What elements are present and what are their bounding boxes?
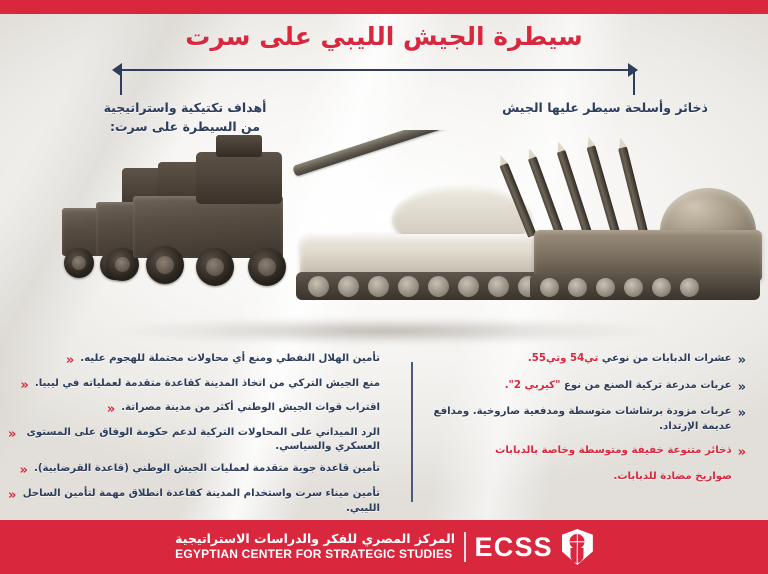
turret-mount	[216, 135, 262, 157]
list-item: منع الجيش التركي من اتخاذ المدينة كقاعدة…	[8, 377, 380, 395]
list-item: تأمين قاعدة جوية متقدمة لعمليات الجيش ال…	[8, 462, 380, 480]
left-heading-line2: من السيطرة على سرت:	[40, 117, 330, 136]
right-heading-line1: ذخائر وأسلحة سيطر عليها الجيش	[502, 100, 708, 115]
infographic-page: سيطرة الجيش الليبي على سرت أهداف تكتيكية…	[0, 0, 768, 574]
bullet-text: ذخائر متنوعة خفيفة ومتوسطة وخاصة بالدباب…	[495, 444, 732, 459]
chevron-icon: «	[20, 462, 28, 480]
bullet-text: عشرات الدبابات من نوعي تي54 وتي55.	[528, 352, 732, 367]
list-item: اقتراب قوات الجيش الوطني أكثر من مدينة م…	[8, 401, 380, 419]
logo-text-block: المركز المصري للفكر والدراسات الاستراتيج…	[175, 532, 455, 561]
top-red-bar	[0, 0, 768, 14]
ecss-logo-icon	[562, 529, 593, 565]
right-column-heading: ذخائر وأسلحة سيطر عليها الجيش	[470, 98, 740, 117]
bullet-text: اقتراب قوات الجيش الوطني أكثر من مدينة م…	[121, 401, 380, 416]
ground-shadow	[40, 319, 730, 349]
logo-abbreviation: ECSS	[475, 534, 553, 561]
bullet-text-highlight: تي54 وتي55.	[528, 353, 598, 364]
page-title: سيطرة الجيش الليبي على سرت	[0, 22, 768, 52]
logo-separator	[464, 532, 466, 562]
bullet-text: الرد الميداني على المحاولات التركية لدعم…	[22, 426, 380, 456]
bracket-left-horizontal	[120, 69, 405, 71]
bracket-right-horizontal	[400, 69, 635, 71]
bullet-text-prefix: عربات مدرعة تركية الصنع من نوع	[564, 380, 732, 391]
chevron-icon: «	[66, 352, 74, 370]
chevron-icon: «	[738, 352, 746, 370]
list-item: تأمين الهلال النفطي ومنع أي محاولات محتم…	[8, 352, 380, 370]
list-item: الرد الميداني على المحاولات التركية لدعم…	[8, 426, 380, 456]
list-item: صواريخ مضادة للدبابات.	[430, 470, 746, 485]
photo-montage	[0, 130, 768, 355]
chevron-icon: «	[8, 487, 16, 505]
list-item: « عربات مدرعة تركية الصنع من نوع "كيربي …	[430, 379, 746, 397]
tank-barrel	[292, 130, 505, 177]
chevron-icon: «	[738, 444, 746, 462]
right-bullet-list: « عشرات الدبابات من نوعي تي54 وتي55. « ع…	[430, 352, 746, 494]
left-bullet-list: تأمين الهلال النفطي ومنع أي محاولات محتم…	[8, 352, 380, 523]
chevron-icon: «	[738, 405, 746, 423]
left-heading-line1: أهداف تكتيكية واستراتيجية	[104, 100, 267, 115]
list-item: « عشرات الدبابات من نوعي تي54 وتي55.	[430, 352, 746, 370]
bullet-text: صواريخ مضادة للدبابات.	[613, 470, 732, 485]
bullet-text: تأمين الهلال النفطي ومنع أي محاولات محتم…	[80, 352, 380, 367]
list-item: تأمين ميناء سرت واستخدام المدينة كقاعدة …	[8, 487, 380, 517]
bullet-text-prefix: عشرات الدبابات من نوعي	[602, 353, 732, 364]
organization-name-en: EGYPTIAN CENTER FOR STRATEGIC STUDIES	[175, 548, 455, 562]
bullet-text: عربات مدرعة تركية الصنع من نوع "كيربي 2"…	[505, 379, 732, 394]
bullet-text: تأمين ميناء سرت واستخدام المدينة كقاعدة …	[22, 487, 380, 517]
column-divider	[411, 362, 413, 502]
organization-name-ar: المركز المصري للفكر والدراسات الاستراتيج…	[175, 532, 455, 546]
arrow-right-icon	[628, 63, 638, 77]
list-item: « عربات مزودة برشاشات متوسطة ومدفعية صار…	[430, 405, 746, 435]
chevron-icon: «	[107, 401, 115, 419]
bullet-text: منع الجيش التركي من اتخاذ المدينة كقاعدة…	[35, 377, 380, 392]
bullet-text: عربات مزودة برشاشات متوسطة ومدفعية صاروخ…	[430, 405, 732, 435]
chevron-icon: «	[8, 426, 16, 444]
left-column-heading: أهداف تكتيكية واستراتيجية من السيطرة على…	[40, 98, 330, 137]
chevron-icon: «	[20, 377, 28, 395]
leaf-icon	[571, 548, 584, 563]
bullet-text: تأمين قاعدة جوية متقدمة لعمليات الجيش ال…	[34, 462, 380, 477]
bracket-left	[120, 69, 405, 95]
list-item: « ذخائر متنوعة خفيفة ومتوسطة وخاصة بالدب…	[430, 444, 746, 462]
footer-bar: ECSS المركز المصري للفكر والدراسات الاست…	[0, 520, 768, 574]
bracket-right	[400, 69, 635, 95]
arrow-left-icon	[112, 63, 122, 77]
launcher-track	[530, 274, 760, 300]
bullet-text-highlight: "كيربي 2".	[505, 380, 561, 391]
chevron-icon: «	[738, 379, 746, 397]
